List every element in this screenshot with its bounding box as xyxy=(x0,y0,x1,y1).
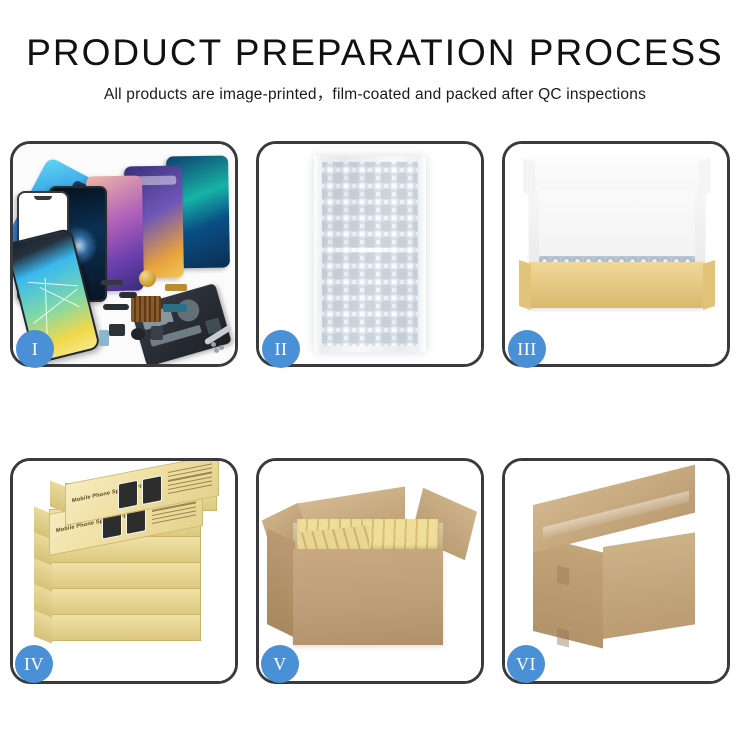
box-phone-image-3 xyxy=(118,480,138,510)
box-spec-lines-2 xyxy=(168,463,212,498)
scene-products xyxy=(13,144,235,364)
step-numeral-6: VI xyxy=(516,654,536,675)
speaker-part-icon xyxy=(139,270,156,287)
step-image-2 xyxy=(259,144,481,364)
step-badge-1: I xyxy=(16,330,54,368)
blue-flex-icon xyxy=(163,304,187,312)
carton-seam-1 xyxy=(557,566,569,586)
scene-sealed-carton xyxy=(505,461,727,681)
step-panel-2: II xyxy=(256,141,484,367)
step-numeral-2: II xyxy=(275,339,288,360)
small-part-6-icon xyxy=(119,292,137,298)
flex-cable-icon xyxy=(103,304,129,310)
step-image-4: Mobile Phone Spare Parts Mobile Phone Sp… xyxy=(13,461,235,681)
scene-box-stack: Mobile Phone Spare Parts Mobile Phone Sp… xyxy=(13,461,235,681)
spare-parts-group xyxy=(99,270,203,354)
step-badge-5: V xyxy=(261,645,299,683)
step-badge-2: II xyxy=(262,330,300,368)
sealed-carton-icon xyxy=(533,505,695,623)
step-image-3 xyxy=(505,144,727,364)
step-numeral-5: V xyxy=(273,654,287,675)
gold-connector-icon xyxy=(165,284,187,291)
product-preparation-infographic: PRODUCT PREPARATION PROCESS All products… xyxy=(0,0,750,750)
foam-sheet-icon xyxy=(539,190,695,262)
step-image-1 xyxy=(13,144,235,364)
step-numeral-4: IV xyxy=(24,654,44,675)
screws-icon xyxy=(211,342,229,352)
sim-tray-icon xyxy=(99,330,109,346)
step-panel-3: III xyxy=(502,141,730,367)
step-badge-3: III xyxy=(508,330,546,368)
page-title: PRODUCT PREPARATION PROCESS xyxy=(0,34,750,73)
step-panel-1: I xyxy=(10,141,238,367)
step-panel-6: VI xyxy=(502,458,730,684)
kraft-box-stack: Mobile Phone Spare Parts Mobile Phone Sp… xyxy=(21,479,227,665)
kraft-box-tray-icon xyxy=(529,262,705,308)
bubble-wrap-pouch-icon xyxy=(314,156,426,352)
header: PRODUCT PREPARATION PROCESS All products… xyxy=(0,0,750,104)
carton-right-face xyxy=(603,532,695,639)
step-badge-6: VI xyxy=(507,645,545,683)
small-part-3-icon xyxy=(131,328,145,340)
page-subtitle: All products are image-printed，film-coat… xyxy=(0,82,750,104)
shipping-carton-open-icon xyxy=(293,549,443,645)
scene-bubble-wrap xyxy=(259,144,481,364)
stack-layer-4 xyxy=(49,561,201,589)
stack-layer-5 xyxy=(49,587,201,615)
step-image-6 xyxy=(505,461,727,681)
chip-grid-icon xyxy=(131,296,161,322)
small-part-5-icon xyxy=(167,322,177,332)
carton-seam-2 xyxy=(557,628,569,648)
stack-layer-6 xyxy=(49,613,201,641)
scene-carton-filling xyxy=(259,461,481,681)
small-part-2-icon xyxy=(109,324,125,336)
scene-inner-box xyxy=(505,144,727,364)
step-numeral-3: III xyxy=(517,339,536,360)
step-image-5 xyxy=(259,461,481,681)
step-numeral-1: I xyxy=(32,339,39,360)
step-panel-5: V xyxy=(256,458,484,684)
step-panel-4: Mobile Phone Spare Parts Mobile Phone Sp… xyxy=(10,458,238,684)
step-badge-4: IV xyxy=(15,645,53,683)
small-part-4-icon xyxy=(151,326,163,340)
small-part-1-icon xyxy=(101,280,123,285)
steps-grid: I II xyxy=(10,141,740,684)
box-phone-image-4 xyxy=(142,475,162,505)
